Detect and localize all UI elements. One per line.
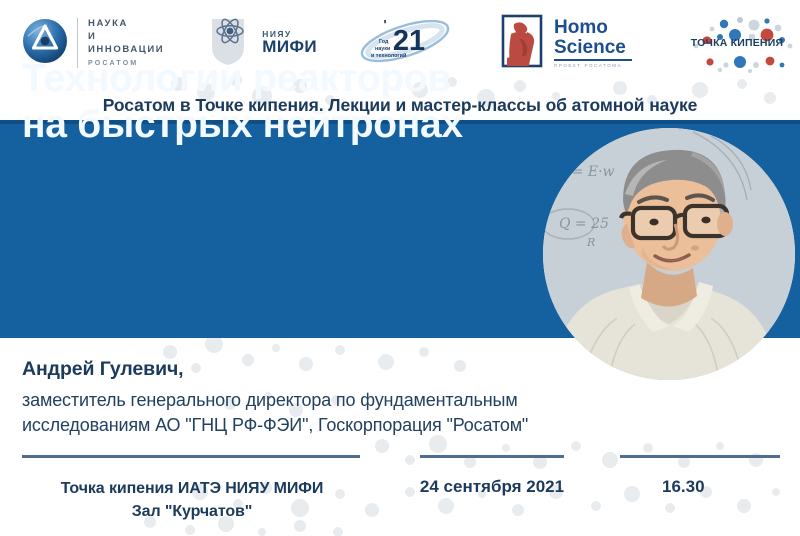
event-time: 16.30 xyxy=(620,477,780,497)
logo-tochka-kipeniya: ТОЧКА КИПЕНИЯ xyxy=(674,10,800,76)
venue: Точка кипения ИАТЭ НИЯУ МИФИ Зал "Курчат… xyxy=(22,477,362,523)
rosatom-line-2: И ИННОВАЦИИ xyxy=(88,31,170,57)
venue-separator xyxy=(22,455,360,458)
svg-text:': ' xyxy=(383,17,386,32)
svg-text:науки: науки xyxy=(375,46,390,52)
venue-line-2: Зал "Курчатов" xyxy=(22,500,362,523)
rosatom-line-1: НАУКА xyxy=(88,18,170,31)
mephi-line-2: МИФИ xyxy=(262,37,317,57)
date-separator xyxy=(420,455,564,458)
speaker-portrait: E = E·w Q = 25 R xyxy=(543,128,795,380)
homo-rule xyxy=(554,59,632,61)
footer: Точка кипения ИАТЭ НИЯУ МИФИ Зал "Курчат… xyxy=(0,455,800,536)
speaker-role: заместитель генерального директора по фу… xyxy=(22,388,722,437)
svg-text:R: R xyxy=(586,236,595,249)
homo-line-3: ПРОЕКТ РОСАТОМА xyxy=(554,63,632,68)
event-date: 24 сентября 2021 xyxy=(412,477,572,497)
tochka-kipeniya-label: ТОЧКА КИПЕНИЯ xyxy=(674,37,800,49)
speaker-info: Андрей Гулевич, заместитель генерального… xyxy=(22,358,722,437)
svg-text:Год: Год xyxy=(379,39,389,45)
homo-line-2: Science xyxy=(554,38,632,57)
svg-text:Q = 25: Q = 25 xyxy=(559,216,609,232)
speaker-role-line-2: исследованиям АО "ГНЦ РФ-ФЭИ", Госкорпор… xyxy=(22,413,722,438)
tagline: Росатом в Точке кипения. Лекции и мастер… xyxy=(0,88,800,122)
venue-line-1: Точка кипения ИАТЭ НИЯУ МИФИ xyxy=(22,477,362,500)
speaker-role-line-1: заместитель генерального директора по фу… xyxy=(22,388,722,413)
homo-line-1: Homo xyxy=(554,18,632,37)
time-separator xyxy=(620,455,780,458)
